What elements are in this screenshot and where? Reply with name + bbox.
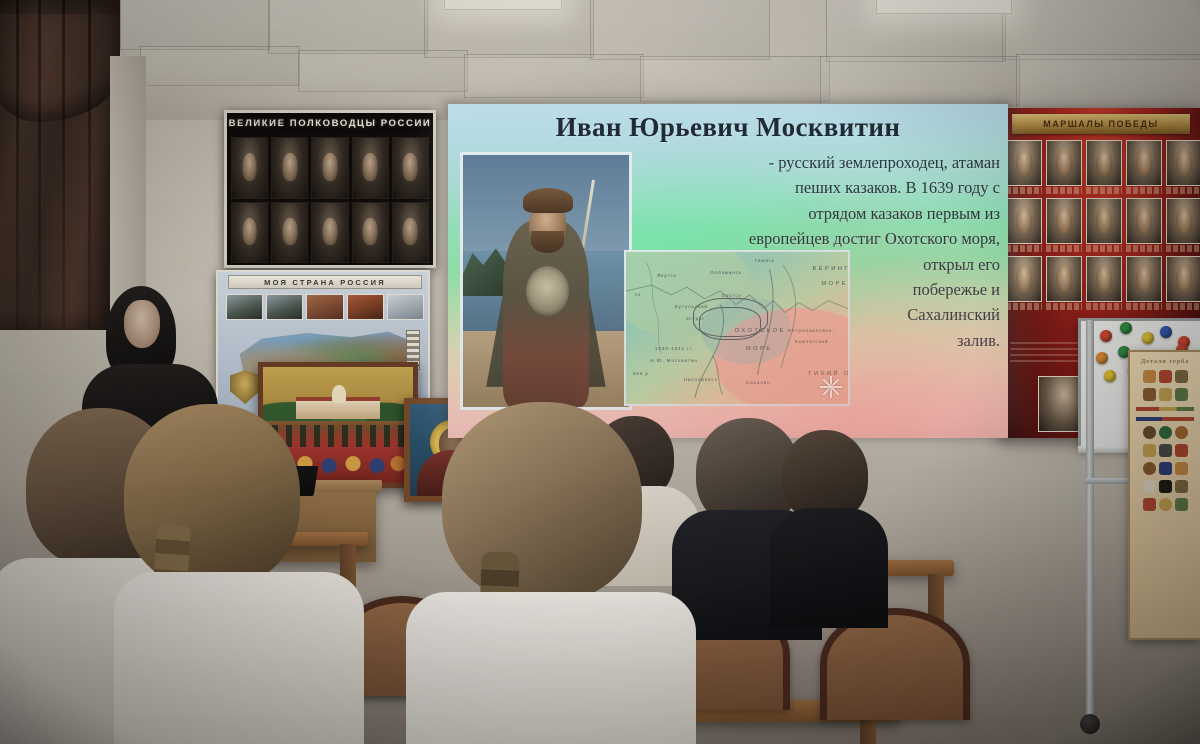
whiteboard-caster-wheel — [1080, 714, 1100, 734]
slide-expedition-map: ЯкутскскБутульскийострог1639-1642 гг.И.Ю… — [624, 250, 850, 406]
student-front-center-braid — [406, 402, 676, 744]
map-label: МОРЕ — [821, 281, 848, 287]
poster-marshals-title: МАРШАЛЫ ПОБЕДЫ — [1012, 114, 1190, 134]
poster-great-commanders: ВЕЛИКИЕ ПОЛКОВОДЦЫ РОССИИ — [224, 110, 436, 268]
slide-body-line: европейцев достиг Охотского моря, — [644, 226, 1000, 251]
map-label: Охотск — [721, 293, 741, 298]
slide-title: Иван Юрьевич Москвитин — [448, 112, 1008, 143]
map-label: БЕРИНГОВО — [812, 266, 850, 272]
map-label: И.Ю. Москвитин — [650, 358, 697, 363]
map-label: острог — [686, 316, 705, 321]
map-label: Гижига — [755, 258, 775, 263]
country-photo-strip — [226, 294, 424, 320]
marshals-portrait-grid — [1006, 140, 1200, 310]
poster-heraldry-details: Детали герба — [1128, 350, 1200, 640]
window-curtain — [0, 0, 120, 330]
slide-portrait-image — [460, 152, 632, 410]
whiteboard-magnet[interactable] — [1120, 322, 1132, 334]
classroom-photo: ВЕЛИКИЕ ПОЛКОВОДЦЫ РОССИИ МОЯ СТРАНА РОС… — [0, 0, 1200, 744]
poster-country-title: МОЯ СТРАНА РОССИЯ — [228, 275, 422, 289]
whiteboard-magnet[interactable] — [1142, 332, 1154, 344]
map-label: Якутск — [657, 273, 676, 278]
map-label: Зея р. — [633, 371, 651, 376]
student-right-a — [770, 430, 888, 620]
poster-heraldry-title: Детали герба — [1130, 358, 1200, 365]
ceiling-light-panel — [876, 0, 1012, 14]
projection-slide: Иван Юрьевич Москвитин - русский землепр… — [448, 104, 1008, 438]
whiteboard-magnet[interactable] — [1160, 326, 1172, 338]
map-label: Олёкминск — [710, 270, 741, 275]
whiteboard-magnet[interactable] — [1096, 352, 1108, 364]
whiteboard-magnet[interactable] — [1104, 370, 1116, 382]
map-label: Бутульский — [675, 304, 708, 309]
slide-body-line: отрядом казаков первым из — [644, 201, 1000, 226]
presenter-face — [124, 300, 160, 348]
map-label: Камчатский — [795, 339, 829, 344]
commanders-portrait-grid — [227, 133, 433, 267]
whiteboard-stand-post — [1086, 320, 1094, 718]
whiteboard-magnet[interactable] — [1100, 330, 1112, 342]
slide-body-line: пеших казаков. В 1639 году с — [644, 175, 1000, 200]
map-label: Николаевск — [684, 377, 718, 382]
poster-commanders-title: ВЕЛИКИЕ ПОЛКОВОДЦЫ РОССИИ — [227, 113, 433, 133]
map-label: ОХОТСКОЕ — [735, 328, 786, 334]
ceiling-light-panel — [444, 0, 562, 10]
slide-body-line: - русский землепроходец, атаман — [644, 150, 1000, 175]
map-label: ск — [635, 292, 641, 297]
map-label: Петропавловск- — [788, 328, 834, 333]
student-front-left-a — [104, 404, 334, 744]
map-label: Сахалин — [746, 380, 771, 385]
russia-crest-icon — [230, 370, 260, 404]
map-label: 1639-1642 гг. — [655, 346, 694, 351]
compass-rose-icon — [819, 375, 843, 399]
map-label: МОРЕ — [746, 346, 773, 352]
